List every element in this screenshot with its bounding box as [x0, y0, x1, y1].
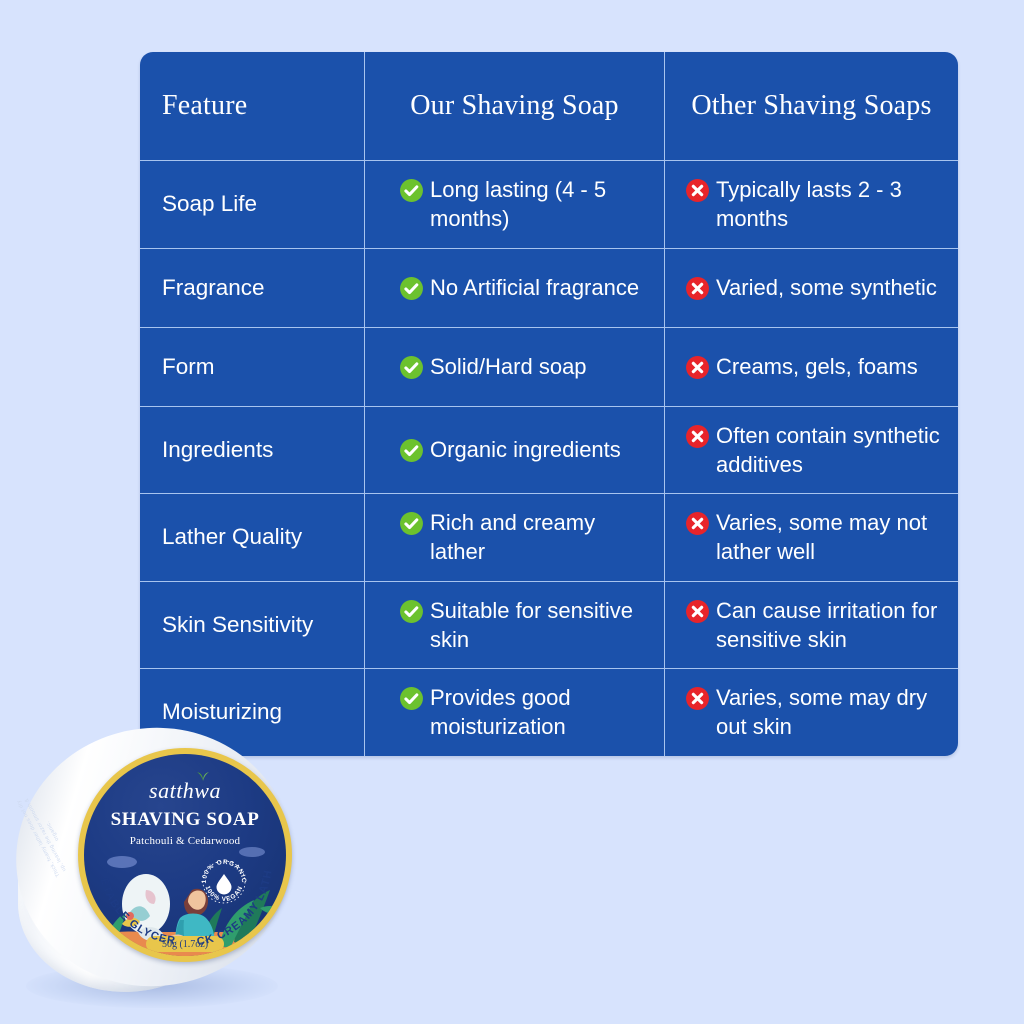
table-row: Ingredients Organic ingredients Often co…	[140, 406, 958, 494]
other-soap-text: Varies, some may not lather well	[716, 508, 948, 567]
feature-label: Fragrance	[140, 249, 364, 327]
our-soap-text: Provides good moisturization	[430, 683, 654, 742]
product-title: SHAVING SOAP	[84, 809, 286, 831]
other-soap-cell: Varies, some may not lather well	[664, 494, 958, 581]
our-soap-cell: Suitable for sensitive skin	[364, 582, 664, 669]
other-soap-cell: Varied, some synthetic	[664, 249, 958, 327]
column-header-feature: Feature	[140, 52, 364, 160]
table-row: Skin Sensitivity Suitable for sensitive …	[140, 581, 958, 669]
feature-label: Ingredients	[140, 407, 364, 494]
our-soap-cell: Solid/Hard soap	[364, 328, 664, 406]
our-soap-text: No Artificial fragrance	[430, 273, 639, 302]
x-circle-icon	[685, 686, 710, 711]
table-row: Soap Life Long lasting (4 - 5 months) Ty…	[140, 160, 958, 248]
table-row: Fragrance No Artificial fragrance Varied…	[140, 248, 958, 327]
check-circle-icon	[399, 686, 424, 711]
other-soap-cell: Varies, some may dry out skin	[664, 669, 958, 756]
feature-label: Soap Life	[140, 161, 364, 248]
our-soap-text: Long lasting (4 - 5 months)	[430, 175, 654, 234]
our-soap-text: Suitable for sensitive skin	[430, 596, 654, 655]
our-soap-text: Solid/Hard soap	[430, 352, 587, 381]
x-circle-icon	[685, 355, 710, 380]
other-soap-text: Creams, gels, foams	[716, 352, 918, 381]
lid-yellow-ring: satthwa SHAVING SOAP Patchouli & Cedarwo…	[78, 748, 292, 962]
column-header-other-shaving-soaps: Other Shaving Soaps	[664, 52, 958, 160]
lid-label-face: satthwa SHAVING SOAP Patchouli & Cedarwo…	[84, 754, 286, 956]
our-soap-cell: Provides good moisturization	[364, 669, 664, 756]
table-header-row: Feature Our Shaving Soap Other Shaving S…	[140, 52, 958, 160]
other-soap-cell: Often contain synthetic additives	[664, 407, 958, 494]
check-circle-icon	[399, 599, 424, 624]
our-soap-cell: No Artificial fragrance	[364, 249, 664, 327]
other-soap-text: Often contain synthetic additives	[716, 421, 948, 480]
tin-lid: Thick, foamy lather does not dry up, lea…	[16, 728, 292, 986]
x-circle-icon	[685, 178, 710, 203]
our-soap-cell: Organic ingredients	[364, 407, 664, 494]
check-circle-icon	[399, 438, 424, 463]
feature-label: Lather Quality	[140, 494, 364, 581]
weight-badge: 50g (1.7oz)	[146, 936, 224, 952]
other-soap-cell: Typically lasts 2 - 3 months	[664, 161, 958, 248]
our-soap-text: Organic ingredients	[430, 435, 621, 464]
x-circle-icon	[685, 424, 710, 449]
x-circle-icon	[685, 276, 710, 301]
other-soap-cell: Creams, gels, foams	[664, 328, 958, 406]
check-circle-icon	[399, 511, 424, 536]
column-header-our-shaving-soap: Our Shaving Soap	[364, 52, 664, 160]
other-soap-text: Varied, some synthetic	[716, 273, 937, 302]
product-tin-image: Thick, foamy lather does not dry up, lea…	[8, 726, 298, 1018]
x-circle-icon	[685, 511, 710, 536]
our-soap-cell: Long lasting (4 - 5 months)	[364, 161, 664, 248]
other-soap-text: Varies, some may dry out skin	[716, 683, 948, 742]
table-row: Form Solid/Hard soap Creams, gels, foams	[140, 327, 958, 406]
brand-name: satthwa	[84, 778, 286, 804]
our-soap-cell: Rich and creamy lather	[364, 494, 664, 581]
check-circle-icon	[399, 276, 424, 301]
feature-label: Form	[140, 328, 364, 406]
feature-label: Skin Sensitivity	[140, 582, 364, 669]
check-circle-icon	[399, 178, 424, 203]
table-row: Lather Quality Rich and creamy lather Va…	[140, 493, 958, 581]
x-circle-icon	[685, 599, 710, 624]
other-soap-text: Can cause irritation for sensitive skin	[716, 596, 948, 655]
comparison-table: Feature Our Shaving Soap Other Shaving S…	[140, 52, 958, 756]
other-soap-text: Typically lasts 2 - 3 months	[716, 175, 948, 234]
check-circle-icon	[399, 355, 424, 380]
other-soap-cell: Can cause irritation for sensitive skin	[664, 582, 958, 669]
our-soap-text: Rich and creamy lather	[430, 508, 654, 567]
